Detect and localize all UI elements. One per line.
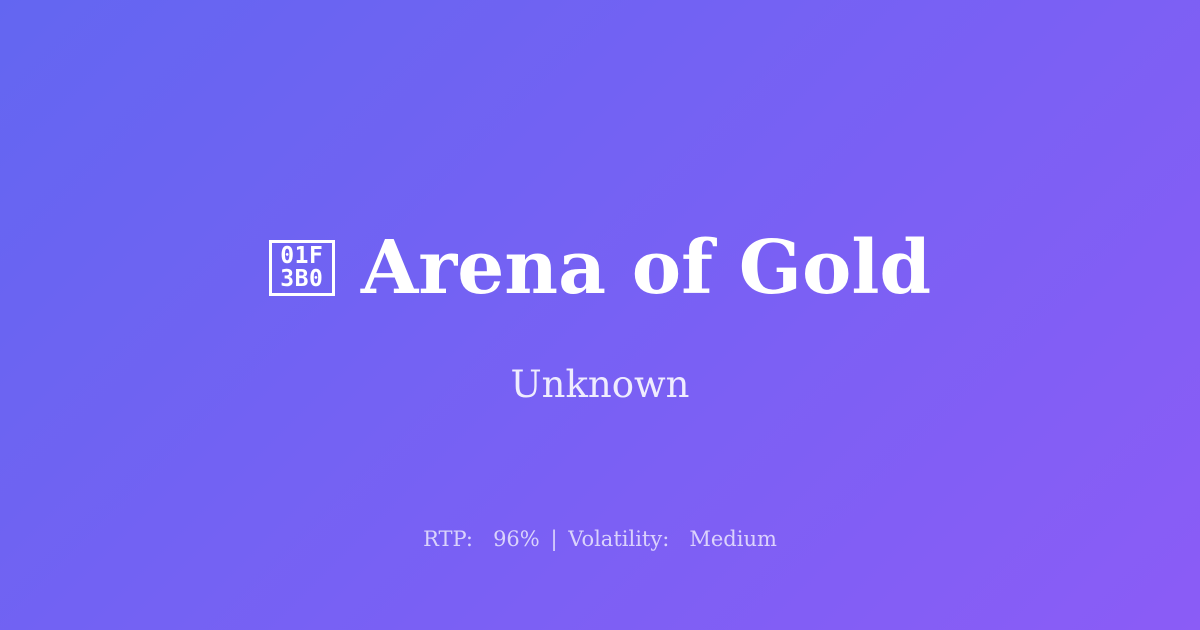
rtp-value: 96% [493, 527, 540, 551]
page-title: Arena of Gold [361, 231, 931, 305]
rtp-label: RTP: [423, 527, 473, 551]
tofu-hex-bottom: 3B0 [280, 268, 323, 291]
game-preview-card: 01F 3B0 Arena of Gold Unknown RTP: 96% |… [0, 0, 1200, 630]
game-meta-line: RTP: 96% | Volatility: Medium [0, 529, 1200, 550]
game-provider-subtitle: Unknown [0, 366, 1200, 403]
title-row: 01F 3B0 Arena of Gold [0, 231, 1200, 305]
meta-separator: | [546, 527, 561, 551]
volatility-value: Medium [689, 527, 777, 551]
volatility-label: Volatility: [568, 527, 669, 551]
slot-machine-emoji-icon: 01F 3B0 [269, 240, 335, 296]
tofu-hex-top: 01F [280, 245, 323, 268]
